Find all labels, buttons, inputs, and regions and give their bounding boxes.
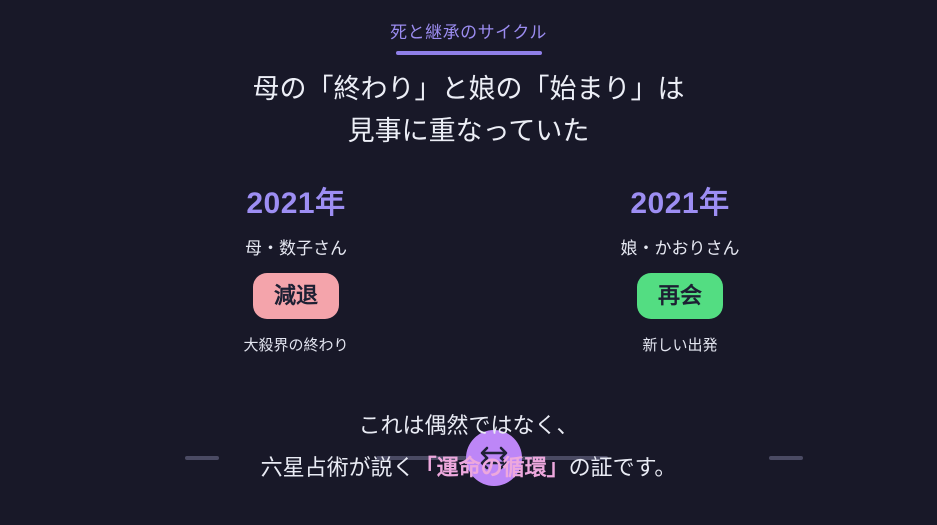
status-badge-right: 再会: [637, 273, 723, 319]
footer-line-2: 六星占術が説く「運命の循環」の証です。: [0, 447, 937, 489]
slide-root: 死と継承のサイクル 母の「終わり」と娘の「始まり」は 見事に重なっていた 202…: [0, 0, 937, 525]
timeline-person-right: 娘・かおりさん: [621, 239, 740, 259]
footer-statement: これは偶然ではなく、 六星占術が説く「運命の循環」の証です。: [0, 405, 937, 489]
timeline-year-right: 2021年: [630, 189, 729, 219]
timeline-comparison: 2021年 母・数子さん 減退 大殺界の終わり 2021年 娘・かおりさん 再会…: [0, 185, 937, 395]
footer-line-2-highlight: 「運命の循環」: [415, 455, 569, 480]
timeline-caption-right: 新しい出発: [642, 337, 717, 355]
page-title-line-1: 母の「終わり」と娘の「始まり」は: [253, 69, 685, 111]
timeline-entry-daughter: 2021年 娘・かおりさん 再会 新しい出発: [530, 185, 830, 355]
timeline-year-left: 2021年: [246, 189, 345, 219]
kicker-block: 死と継承のサイクル: [390, 22, 547, 55]
timeline-caption-left: 大殺界の終わり: [243, 337, 348, 355]
timeline-person-left: 母・数子さん: [245, 239, 347, 259]
status-badge-left: 減退: [253, 273, 339, 319]
kicker-underline: [396, 51, 542, 55]
kicker-text: 死と継承のサイクル: [390, 22, 547, 45]
footer-line-1: これは偶然ではなく、: [0, 405, 937, 447]
timeline-entry-mother: 2021年 母・数子さん 減退 大殺界の終わり: [146, 185, 446, 355]
page-title-line-2: 見事に重なっていた: [253, 111, 685, 153]
footer-line-2-suffix: の証です。: [569, 455, 677, 480]
page-title: 母の「終わり」と娘の「始まり」は 見事に重なっていた: [253, 69, 685, 153]
footer-line-2-prefix: 六星占術が説く: [261, 455, 415, 480]
